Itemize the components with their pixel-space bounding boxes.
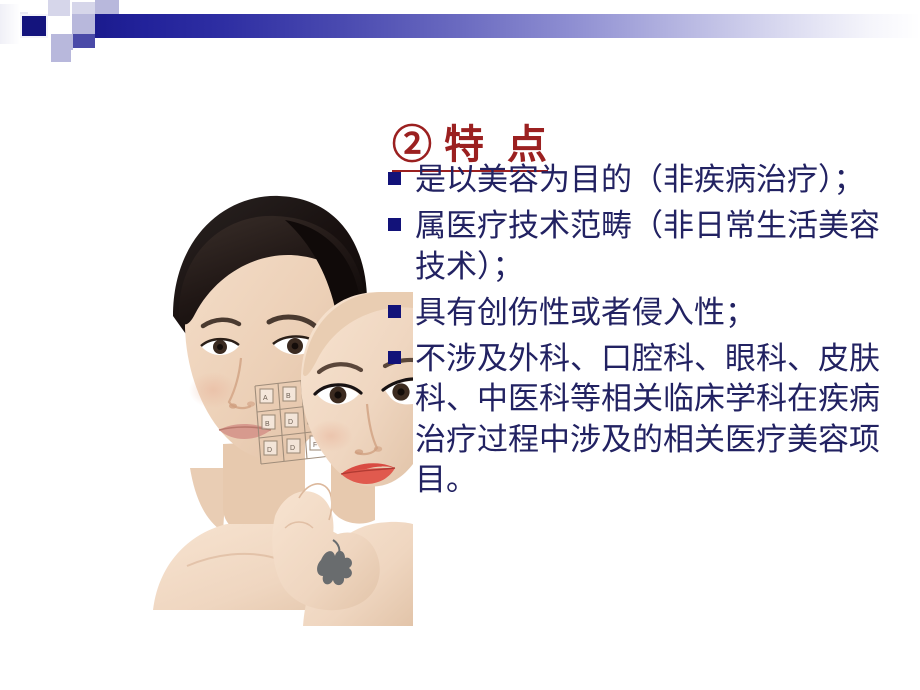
square-bullet-icon — [388, 172, 401, 185]
list-item: 是以美容为目的（非疾病治疗）； — [388, 160, 880, 200]
deco-square-dark — [20, 14, 48, 38]
portrait-photo: ABC BDE DDF — [135, 168, 413, 626]
deco-square-light-b — [51, 44, 71, 62]
deco-square-mid-a — [73, 34, 95, 48]
list-item: 属医疗技术范畴（非日常生活美容技术）； — [388, 206, 880, 287]
slide-canvas: ABC BDE DDF — [0, 0, 920, 690]
header-gradient-bar — [95, 14, 920, 38]
svg-text:D: D — [290, 445, 295, 452]
header-decoration — [0, 0, 920, 62]
svg-text:B: B — [286, 393, 291, 400]
list-item: 具有创伤性或者侵入性； — [388, 293, 880, 333]
list-item-label: 具有创伤性或者侵入性； — [415, 293, 880, 333]
deco-square-light-c — [72, 14, 95, 34]
bullet-list: 是以美容为目的（非疾病治疗）； 属医疗技术范畴（非日常生活美容技术）； 具有创伤… — [388, 160, 880, 506]
square-bullet-icon — [388, 305, 401, 318]
svg-text:A: A — [263, 395, 268, 402]
deco-square-light-d — [95, 0, 119, 14]
list-item: 不涉及外科、口腔科、眼科、皮肤科、中医科等相关临床学科在疾病治疗过程中涉及的相关… — [388, 339, 880, 500]
portrait-photo-illustration: ABC BDE DDF — [135, 168, 413, 626]
svg-text:D: D — [288, 419, 293, 426]
list-item-label: 属医疗技术范畴（非日常生活美容技术）； — [415, 206, 880, 287]
deco-square-pale-a — [48, 0, 70, 16]
square-bullet-icon — [388, 351, 401, 364]
svg-text:B: B — [265, 421, 270, 428]
square-bullet-icon — [388, 218, 401, 231]
list-item-label: 是以美容为目的（非疾病治疗）； — [415, 160, 880, 200]
list-item-label: 不涉及外科、口腔科、眼科、皮肤科、中医科等相关临床学科在疾病治疗过程中涉及的相关… — [415, 339, 880, 500]
deco-square-fade-left — [0, 4, 20, 44]
svg-text:D: D — [267, 447, 272, 454]
